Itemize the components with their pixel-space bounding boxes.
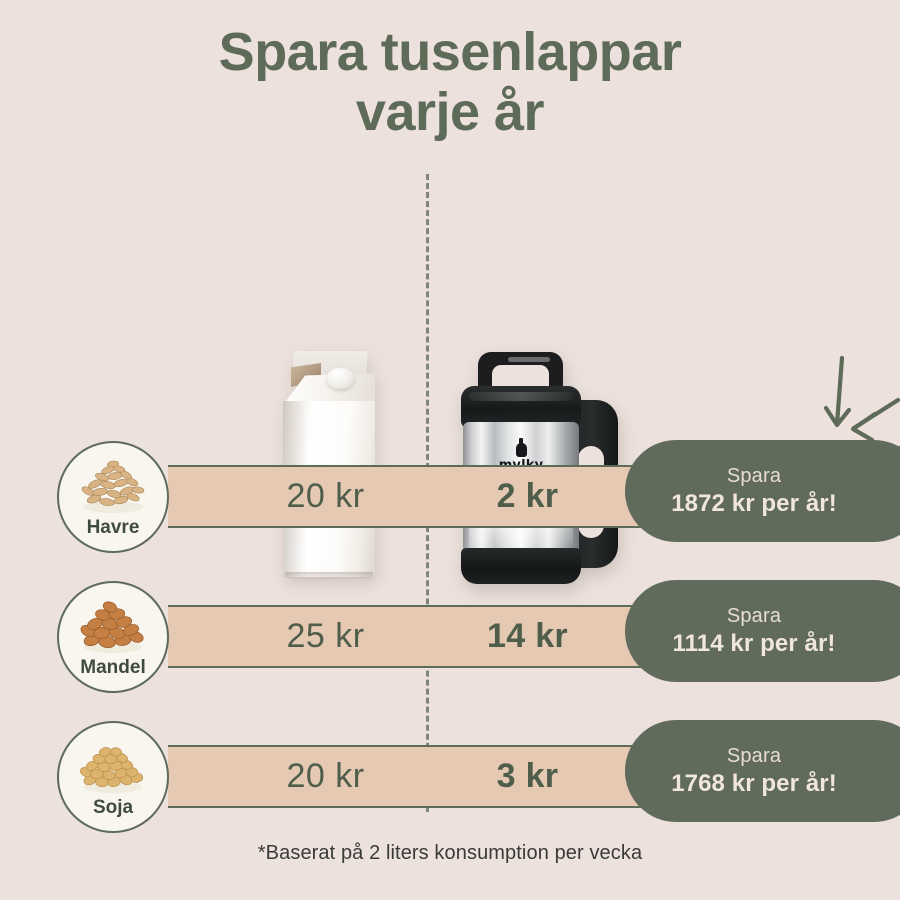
machine-price: 2 kr <box>440 465 615 528</box>
carton-price: 20 kr <box>238 465 413 528</box>
savings-amount: 1872 kr per år! <box>671 489 837 519</box>
infographic-canvas: Spara tusenlappar varje år m <box>0 0 900 900</box>
savings-badge[interactable]: Spara 1768 kr per år! <box>625 720 900 822</box>
sidebar-item-label: Havre <box>87 518 140 537</box>
machine-handle-gloss <box>508 357 550 362</box>
sidebar-item-label: Soja <box>93 798 133 817</box>
machine-price: 3 kr <box>440 745 615 808</box>
savings-badge[interactable]: Spara 1114 kr per år! <box>625 580 900 682</box>
savings-amount: 1768 kr per år! <box>671 769 837 799</box>
page-title: Spara tusenlappar varje år <box>0 22 900 143</box>
sidebar-item-mandel[interactable]: Mandel <box>57 581 169 693</box>
oat-flakes-icon <box>74 455 152 517</box>
savings-label: Spara <box>727 744 781 769</box>
carton-price: 25 kr <box>238 605 413 668</box>
almonds-icon <box>74 595 152 657</box>
page-title-line-2: varje år <box>0 82 900 142</box>
comparison-rows: Havre 20 kr 2 kr Spara 1872 kr per år! <box>0 437 900 857</box>
sidebar-item-havre[interactable]: Havre <box>57 441 169 553</box>
sidebar-item-label: Mandel <box>80 658 145 677</box>
savings-badge[interactable]: Spara 1872 kr per år! <box>625 440 900 542</box>
table-row: Havre 20 kr 2 kr Spara 1872 kr per år! <box>0 437 900 577</box>
table-row: Soja 20 kr 3 kr Spara 1768 kr per år! <box>0 717 900 857</box>
page-title-line-1: Spara tusenlappar <box>219 22 682 82</box>
carton-price: 20 kr <box>238 745 413 808</box>
table-row: Mandel 25 kr 14 kr Spara 1114 kr per år! <box>0 577 900 717</box>
machine-price: 14 kr <box>440 605 615 668</box>
soybeans-icon <box>74 735 152 797</box>
savings-label: Spara <box>727 464 781 489</box>
carton-cap-icon <box>327 368 354 389</box>
savings-label: Spara <box>727 604 781 629</box>
footnote: *Baserat på 2 liters konsumption per vec… <box>0 842 900 865</box>
product-showcase: mylky <box>0 168 900 430</box>
sidebar-item-soja[interactable]: Soja <box>57 721 169 833</box>
savings-amount: 1114 kr per år! <box>673 629 836 659</box>
